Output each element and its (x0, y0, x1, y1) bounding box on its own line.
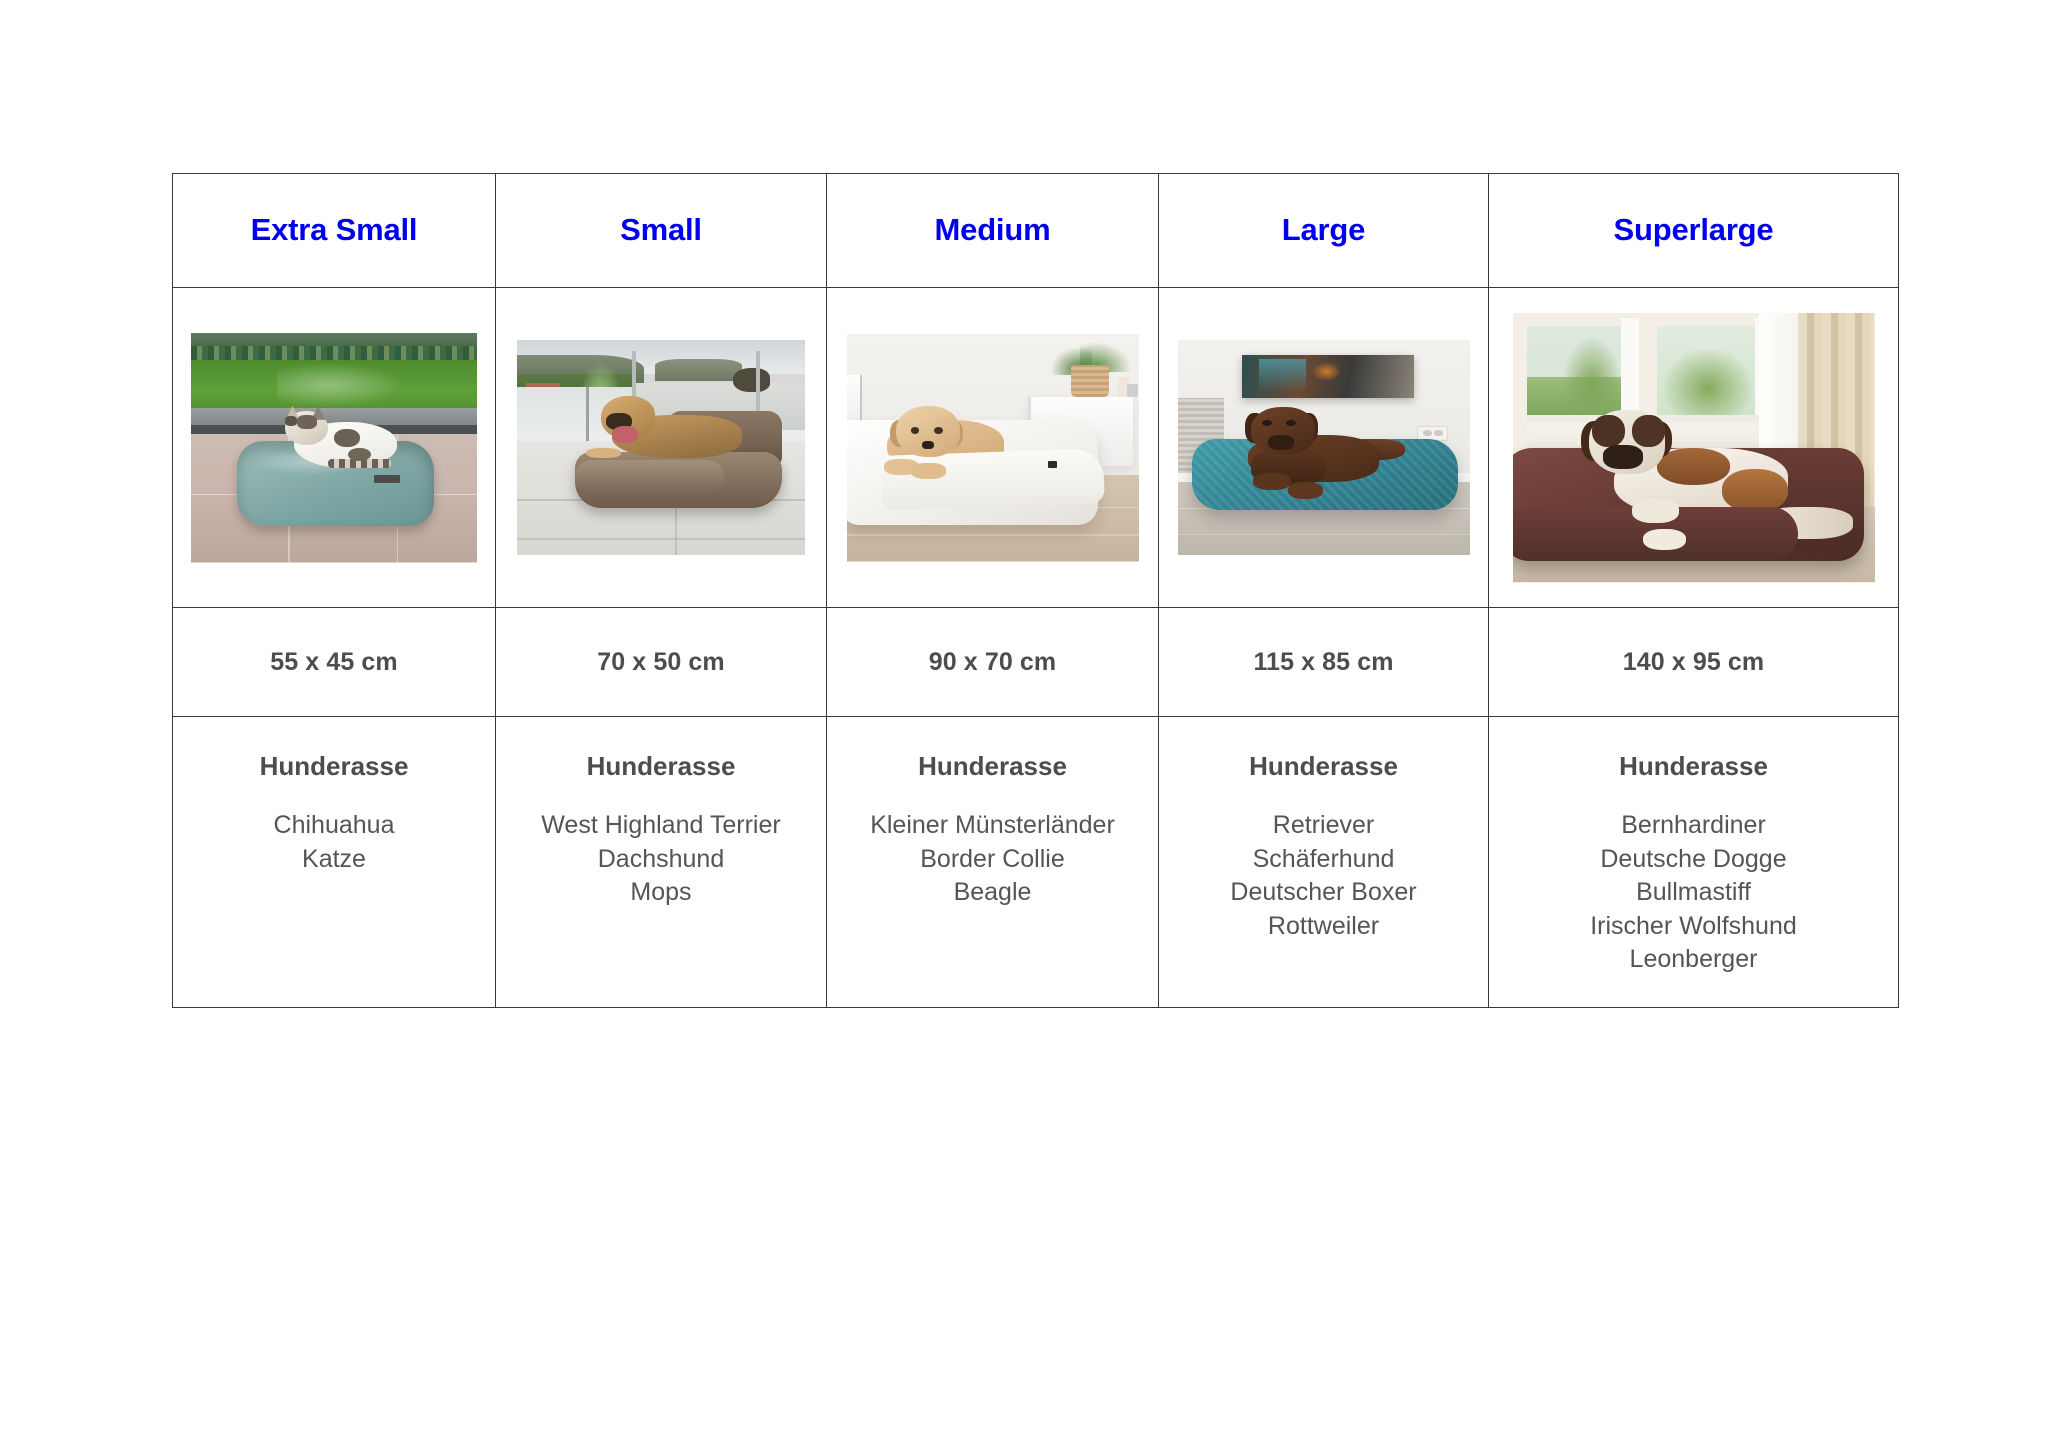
breed-list: Kleiner Münsterländer Border Collie Beag… (827, 809, 1158, 910)
photo-wrap (827, 288, 1158, 607)
size-header-label: Large (1159, 213, 1488, 247)
breed-item: Schäferhund (1159, 843, 1488, 877)
product-photo-large (1178, 340, 1470, 555)
page-canvas: Extra Small Small Medium Large Superlarg… (0, 0, 2048, 1448)
cell-photo-small (496, 288, 827, 608)
breed-item: Retriever (1159, 809, 1488, 843)
floor-plank-seam (1178, 534, 1470, 536)
artwork-detail (1312, 362, 1341, 381)
photo-wrap (173, 288, 495, 607)
breed-list: West Highland Terrier Dachshund Mops (496, 809, 826, 910)
dog-eye (911, 427, 920, 434)
size-header-label: Superlarge (1489, 213, 1898, 247)
tree (1563, 337, 1621, 418)
cell-breeds-medium: Hunderasse Kleiner Münsterländer Border … (827, 717, 1159, 1008)
cell-breeds-large: Hunderasse Retriever Schäferhund Deutsch… (1159, 717, 1489, 1008)
cell-photo-extra-small (173, 288, 496, 608)
photo-wrap (496, 288, 826, 607)
dog-fur-patch (1722, 469, 1787, 512)
cell-header-medium: Medium (827, 174, 1159, 288)
hedge (1665, 350, 1752, 420)
cat-face-patch (297, 415, 317, 429)
breed-item: Beagle (827, 876, 1158, 910)
breed-section-title: Hunderasse (1489, 753, 1898, 779)
breed-item: Rottweiler (1159, 910, 1488, 944)
artwork-detail (1259, 359, 1306, 391)
cell-dimensions-large: 115 x 85 cm (1159, 608, 1489, 717)
breed-section-title: Hunderasse (827, 753, 1158, 779)
breed-item: Deutscher Boxer (1159, 876, 1488, 910)
dimensions-label: 115 x 85 cm (1159, 648, 1488, 677)
breed-item: Deutsche Dogge (1489, 843, 1898, 877)
dog-eye (934, 427, 943, 434)
cushion-fold (881, 448, 1105, 510)
cell-header-extra-small: Extra Small (173, 174, 496, 288)
size-header-label: Extra Small (173, 213, 495, 247)
dog-muzzle (1603, 445, 1643, 469)
cell-header-superlarge: Superlarge (1489, 174, 1899, 288)
cell-photo-medium (827, 288, 1159, 608)
cell-photo-superlarge (1489, 288, 1899, 608)
table-row-size-headers: Extra Small Small Medium Large Superlarg… (173, 174, 1899, 288)
dog-bed-size-table: Extra Small Small Medium Large Superlarg… (172, 173, 1899, 1008)
cell-header-small: Small (496, 174, 827, 288)
breed-block: Hunderasse Bernhardiner Deutsche Dogge B… (1489, 717, 1898, 977)
cell-photo-large (1159, 288, 1489, 608)
dimensions-label: 55 x 45 cm (173, 648, 495, 677)
product-photo-small (517, 340, 805, 555)
cell-breeds-superlarge: Hunderasse Bernhardiner Deutsche Dogge B… (1489, 717, 1899, 1008)
table-row-photos (173, 288, 1899, 608)
dog-paw (1643, 529, 1686, 551)
shrub (733, 368, 770, 392)
hillside (655, 359, 741, 381)
breed-section-title: Hunderasse (173, 753, 495, 779)
breed-item: Irischer Wolfshund (1489, 910, 1898, 944)
breed-item: Bullmastiff (1489, 876, 1898, 910)
cell-dimensions-small: 70 x 50 cm (496, 608, 827, 717)
breed-section-title: Hunderasse (1159, 753, 1488, 779)
breed-item: West Highland Terrier (496, 809, 826, 843)
dimensions-label: 70 x 50 cm (496, 648, 826, 677)
breed-section-title: Hunderasse (496, 753, 826, 779)
cat-fur-patch (334, 429, 360, 447)
breed-item: Kleiner Münsterländer (827, 809, 1158, 843)
breed-item: Chihuahua (173, 809, 495, 843)
dog-paw (586, 448, 621, 459)
dog-bed-bolster (575, 460, 725, 492)
cat-face-patch (285, 416, 296, 425)
dog-eye-mask (1632, 415, 1665, 447)
woven-basket-pot (1071, 365, 1109, 397)
socket-outlet (1434, 430, 1443, 435)
table-row-breeds: Hunderasse Chihuahua Katze Hunderasse We… (173, 717, 1899, 1008)
size-header-label: Small (496, 213, 826, 247)
dog-eye-mask (1592, 415, 1625, 447)
product-photo-medium (847, 334, 1139, 562)
dimensions-label: 140 x 95 cm (1489, 648, 1898, 677)
breed-item: Bernhardiner (1489, 809, 1898, 843)
breed-block: Hunderasse Kleiner Münsterländer Border … (827, 717, 1158, 910)
dog-muzzle (1268, 435, 1294, 450)
candle (1127, 384, 1139, 398)
breed-block: Hunderasse West Highland Terrier Dachshu… (496, 717, 826, 910)
breed-item: Mops (496, 876, 826, 910)
breed-item: Katze (173, 843, 495, 877)
dimensions-label: 90 x 70 cm (827, 648, 1158, 677)
brand-label (374, 475, 400, 483)
floor-plank-seam (847, 534, 1139, 536)
dog-paw (1253, 473, 1291, 490)
dog-paw (911, 463, 946, 479)
table-row-dimensions: 55 x 45 cm 70 x 50 cm 90 x 70 cm 115 x 8… (173, 608, 1899, 717)
photo-wrap (1489, 288, 1898, 607)
breed-item: Leonberger (1489, 943, 1898, 977)
brand-label (1048, 461, 1057, 468)
dog-tongue (612, 426, 638, 443)
dog-paw (1632, 499, 1679, 523)
photo-wrap (1159, 288, 1488, 607)
glass-reflection (277, 362, 406, 408)
product-photo-superlarge (1513, 313, 1875, 583)
window-sill (1657, 415, 1758, 423)
cell-dimensions-medium: 90 x 70 cm (827, 608, 1159, 717)
breed-block: Hunderasse Retriever Schäferhund Deutsch… (1159, 717, 1488, 943)
breed-list: Chihuahua Katze (173, 809, 495, 876)
breed-item: Border Collie (827, 843, 1158, 877)
cell-dimensions-superlarge: 140 x 95 cm (1489, 608, 1899, 717)
socket-outlet (1423, 430, 1432, 435)
dog-paw (1288, 482, 1323, 499)
tile-seam (517, 538, 805, 540)
breed-list: Bernhardiner Deutsche Dogge Bullmastiff … (1489, 809, 1898, 977)
breed-list: Retriever Schäferhund Deutscher Boxer Ro… (1159, 809, 1488, 943)
dog-nose (922, 441, 934, 449)
size-header-label: Medium (827, 213, 1158, 247)
cell-dimensions-extra-small: 55 x 45 cm (173, 608, 496, 717)
product-photo-extra-small (191, 333, 477, 563)
dog-head (896, 406, 960, 456)
breed-block: Hunderasse Chihuahua Katze (173, 717, 495, 876)
cell-breeds-small: Hunderasse West Highland Terrier Dachshu… (496, 717, 827, 1008)
dog-eye (1286, 420, 1296, 426)
cell-header-large: Large (1159, 174, 1489, 288)
breed-item: Dachshund (496, 843, 826, 877)
cell-breeds-extra-small: Hunderasse Chihuahua Katze (173, 717, 496, 1008)
